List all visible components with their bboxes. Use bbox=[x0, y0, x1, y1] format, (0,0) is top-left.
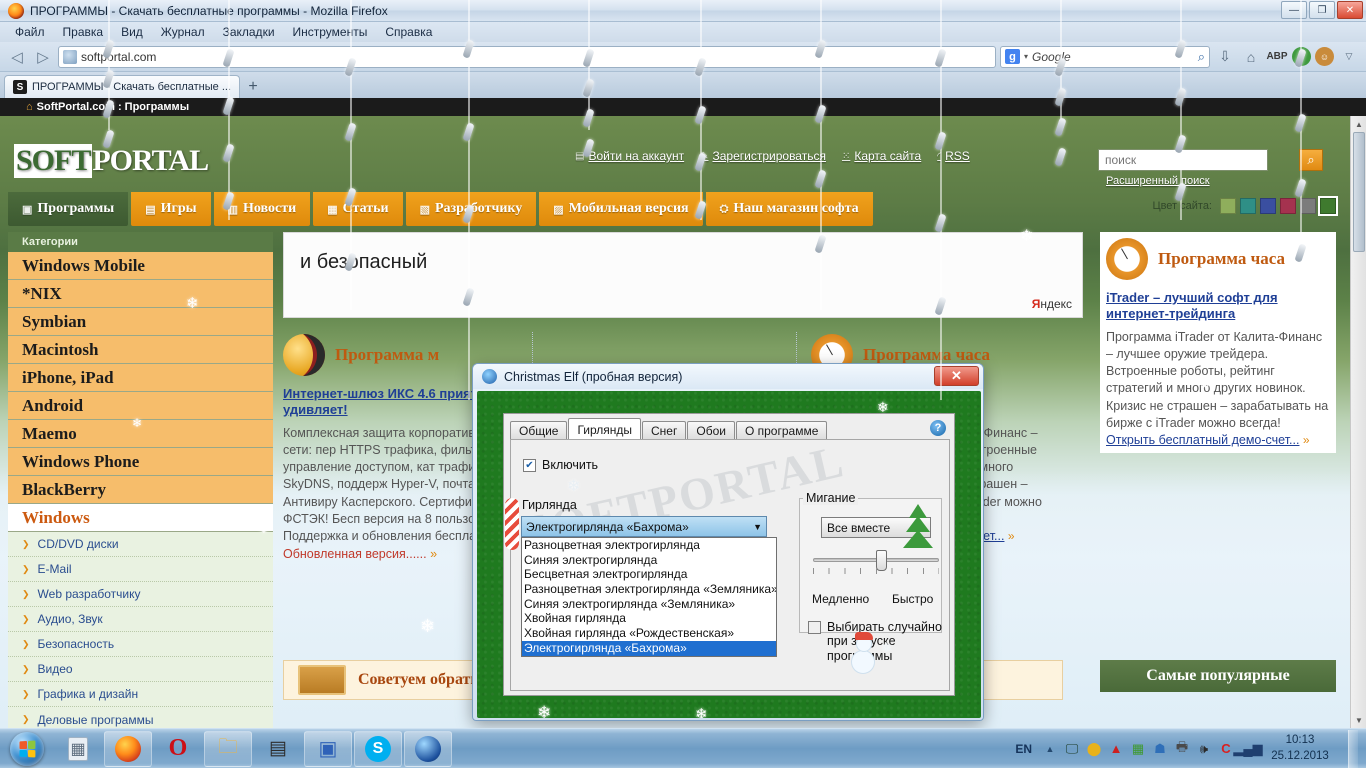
category-list: ❯ CD/DVD диски ❯ E-Mail ❯ Web разработчи… bbox=[8, 532, 273, 728]
site-favicon-icon bbox=[63, 50, 77, 64]
enable-checkbox[interactable]: ✔ Включить bbox=[523, 458, 598, 472]
site-nav: ▣ Программы ▤ Игры ▥ Новости ▦ Статьи ▧ bbox=[0, 192, 1350, 226]
christmas-ball-icon bbox=[415, 736, 441, 762]
chevron-up-icon[interactable]: ▲ bbox=[1042, 741, 1058, 757]
category-cd-dvd[interactable]: ❯ CD/DVD диски bbox=[8, 532, 273, 557]
firefox-icon bbox=[115, 736, 141, 762]
tab-wallpaper[interactable]: Обои bbox=[687, 421, 735, 440]
sitemap-link[interactable]: ⁙ Карта сайта bbox=[842, 149, 921, 163]
slider-ticks bbox=[813, 568, 939, 574]
site-header: SOFTPORTAL ▤ Войти на аккаунт ✎ Зарегист… bbox=[0, 116, 1350, 192]
snowflake-icon: ❄ bbox=[537, 703, 551, 718]
dialog-titlebar: Christmas Elf (пробная версия) ✕ bbox=[473, 364, 983, 389]
speed-fast-label: Быстро bbox=[892, 592, 933, 606]
search-icon[interactable]: ⌕ bbox=[1299, 149, 1323, 171]
garland-option-2[interactable]: Бесцветная электрогирлянда bbox=[522, 567, 776, 582]
page-viewport: SOFTPORTAL ▤ Войти на аккаунт ✎ Зарегист… bbox=[0, 116, 1366, 728]
taskbar-save[interactable]: ▣ bbox=[304, 731, 352, 767]
menu-help[interactable]: Справка bbox=[376, 24, 441, 40]
category-label: Безопасность bbox=[38, 637, 115, 651]
sidebar-item-windows-current[interactable]: Windows bbox=[8, 504, 273, 532]
network-green-icon[interactable]: ▦ bbox=[1130, 741, 1146, 757]
garland-dropdown-list[interactable]: Разноцветная электрогирлянда Синяя элект… bbox=[521, 537, 777, 657]
nav-games-label: Игры bbox=[161, 201, 197, 217]
sidebar-item-windows-mobile[interactable]: Windows Mobile bbox=[8, 252, 273, 280]
chevron-right-icon: ❯ bbox=[22, 614, 30, 625]
user-blue-icon[interactable]: ☗ bbox=[1152, 741, 1168, 757]
mobile-icon: ▨ bbox=[553, 203, 563, 216]
triangle-red-icon[interactable]: ▲ bbox=[1108, 741, 1124, 757]
dialog-content: SOFTPORTAL ✔ Включить Гирлянда Электроги… bbox=[510, 439, 950, 691]
menu-bookmarks[interactable]: Закладки bbox=[214, 24, 284, 40]
garland-option-1[interactable]: Синяя электрогирлянда bbox=[522, 553, 776, 568]
nav-shop-label: Наш магазин софта bbox=[733, 201, 858, 217]
category-email[interactable]: ❯ E-Mail bbox=[8, 557, 273, 582]
sidebar-heading: Категории bbox=[8, 232, 273, 252]
help-icon[interactable]: ? bbox=[930, 420, 946, 436]
volume-icon[interactable]: 🕪 bbox=[1196, 741, 1212, 757]
site-logo[interactable]: SOFTPORTAL bbox=[14, 144, 208, 178]
opera-icon: O bbox=[165, 736, 191, 762]
scrollbar-thumb[interactable] bbox=[1353, 132, 1365, 252]
block-textlink[interactable]: Открыть бесплатный демо-счет... bbox=[1106, 433, 1299, 447]
bookmarks-bar: ⌂ SoftPortal.com : Программы bbox=[0, 98, 1366, 116]
scroll-down-icon[interactable]: ▼ bbox=[1351, 712, 1366, 728]
navigation-toolbar: ◁ ▷ softportal.com g ▾ Google ⌕ ⇩ ⌂ ABP … bbox=[0, 42, 1366, 72]
back-icon[interactable]: ◁ bbox=[6, 46, 28, 68]
taskbar-calculator[interactable]: ▦ bbox=[54, 731, 102, 767]
chevron-down-icon[interactable]: ▼ bbox=[753, 522, 762, 532]
addon-face-icon[interactable]: ☺ bbox=[1315, 47, 1334, 66]
menu-file[interactable]: Файл bbox=[6, 24, 54, 40]
garland-option-5[interactable]: Хвойная гирлянда bbox=[522, 611, 776, 626]
maximize-button[interactable]: ❐ bbox=[1309, 1, 1335, 19]
category-label: Деловые программы bbox=[38, 713, 154, 727]
dialog-green-frame: Общие Гирлянды Снег Обои О программе ? S… bbox=[477, 391, 981, 718]
firefox-logo-icon bbox=[8, 3, 24, 19]
sidebar-item-nix[interactable]: *NIX bbox=[8, 280, 273, 308]
blink-mode-value: Все вместе bbox=[827, 521, 890, 535]
nav-mobile-label: Мобильная версия bbox=[569, 201, 689, 217]
garland-option-3[interactable]: Разноцветная электрогирлянда «Земляника» bbox=[522, 582, 776, 597]
search-input[interactable] bbox=[1098, 149, 1268, 171]
nav-developer-label: Разработчику bbox=[435, 201, 522, 217]
sitemap-label: Карта сайта bbox=[854, 149, 921, 163]
chevron-down-icon[interactable]: ▾ bbox=[1024, 52, 1028, 61]
sidebar-item-windows-phone[interactable]: Windows Phone bbox=[8, 448, 273, 476]
windows-taskbar: ▦ O 🗀 ▤ ▣ S EN ▲ 🖵 ⬤ ▲ ▦ ☗ 🖶 🕪 C ▂▄▆ 10:… bbox=[0, 728, 1366, 768]
show-desktop-button[interactable] bbox=[1348, 730, 1358, 768]
url-bar[interactable]: softportal.com bbox=[58, 46, 996, 68]
shield-yellow-icon[interactable]: ⬤ bbox=[1086, 741, 1102, 757]
category-audio[interactable]: ❯ Аудио, Звук bbox=[8, 607, 273, 632]
dialog-title: Christmas Elf (пробная версия) bbox=[504, 370, 682, 384]
category-web-dev[interactable]: ❯ Web разработчику bbox=[8, 582, 273, 607]
logo-soft: SOFT bbox=[14, 144, 92, 178]
download-arrow-icon[interactable]: ⇩ bbox=[1214, 46, 1236, 68]
games-icon: ▤ bbox=[145, 203, 155, 216]
menu-history[interactable]: Журнал bbox=[152, 24, 214, 40]
block-text: Программа iTrader от Калита-Финанс – луч… bbox=[1106, 329, 1330, 433]
category-label: CD/DVD диски bbox=[38, 537, 119, 551]
snowflake-icon: ❄ bbox=[567, 476, 580, 496]
chevron-right-icon: ❯ bbox=[22, 714, 30, 725]
rss-link[interactable]: ◜ RSS bbox=[937, 149, 970, 163]
rss-label: RSS bbox=[945, 149, 970, 163]
theme-swatch-4[interactable] bbox=[1280, 198, 1296, 214]
cart-icon: ⛭ bbox=[720, 203, 729, 216]
nav-games[interactable]: ▤ Игры bbox=[131, 192, 210, 226]
dialog-panel: Общие Гирлянды Снег Обои О программе ? S… bbox=[503, 413, 955, 696]
category-label: E-Mail bbox=[38, 562, 72, 576]
articles-icon: ▦ bbox=[327, 203, 337, 216]
printer-icon[interactable]: 🖶 bbox=[1174, 741, 1190, 757]
category-graphics[interactable]: ❯ Графика и дизайн bbox=[8, 682, 273, 707]
chevron-right-icon: ❯ bbox=[22, 589, 30, 600]
sidebar-item-blackberry[interactable]: BlackBerry bbox=[8, 476, 273, 504]
chevron-double-icon: » bbox=[430, 547, 437, 561]
tab-favicon-icon: S bbox=[13, 80, 27, 94]
windows-start-icon[interactable] bbox=[2, 731, 52, 767]
system-tray: EN ▲ 🖵 ⬤ ▲ ▦ ☗ 🖶 🕪 C ▂▄▆ 10:13 25.12.201… bbox=[1011, 729, 1366, 768]
scroll-up-icon[interactable]: ▲ bbox=[1351, 116, 1366, 132]
tab-softportal[interactable]: S ПРОГРАММЫ - Скачать бесплатные ... bbox=[4, 75, 240, 98]
nav-articles[interactable]: ▦ Статьи bbox=[313, 192, 402, 226]
block-title: Программа часа bbox=[1158, 250, 1285, 269]
snowflake-icon: ❄ bbox=[695, 705, 708, 718]
theme-label: Цвет сайта: bbox=[1152, 200, 1212, 212]
speed-slider[interactable] bbox=[813, 558, 939, 562]
blink-legend: Мигание bbox=[803, 491, 858, 505]
logo-portal: PORTAL bbox=[92, 144, 208, 177]
tab-about[interactable]: О программе bbox=[736, 421, 827, 440]
sidebar-item-iphone-ipad[interactable]: iPhone, iPad bbox=[8, 364, 273, 392]
category-label: Web разработчику bbox=[38, 587, 141, 601]
taskbar-document[interactable]: ▤ bbox=[254, 731, 302, 767]
close-button[interactable]: ✕ bbox=[1337, 1, 1363, 19]
garland-option-7-selected[interactable]: Электрогирлянда «Бахрома» bbox=[522, 641, 776, 656]
url-text: softportal.com bbox=[81, 50, 156, 64]
search-icon[interactable]: ⌕ bbox=[1198, 49, 1205, 65]
theme-swatch-3[interactable] bbox=[1260, 198, 1276, 214]
garland-option-4[interactable]: Синяя электрогирлянда «Земляника» bbox=[522, 597, 776, 612]
moon-icon bbox=[283, 334, 325, 376]
elf-app-icon bbox=[482, 369, 497, 384]
login-link[interactable]: ▤ Войти на аккаунт bbox=[575, 149, 684, 163]
category-video[interactable]: ❯ Видео bbox=[8, 657, 273, 682]
home-icon: ⌂ bbox=[26, 101, 33, 113]
chevron-double-icon: » bbox=[1303, 433, 1310, 447]
login-label: Войти на аккаунт bbox=[588, 149, 684, 163]
garland-option-6[interactable]: Хвойная гирлянда «Рождественская» bbox=[522, 626, 776, 641]
floppy-save-icon: ▣ bbox=[315, 736, 341, 762]
sidebar-item-android[interactable]: Android bbox=[8, 392, 273, 420]
sidebar: Категории Windows Mobile *NIX Symbian Ma… bbox=[8, 232, 273, 728]
clock[interactable]: 10:13 25.12.2013 bbox=[1262, 733, 1338, 764]
candy-cane-icon bbox=[505, 498, 519, 550]
window-title: ПРОГРАММЫ - Скачать бесплатные программы… bbox=[30, 4, 388, 18]
chevron-right-icon: ❯ bbox=[22, 639, 30, 650]
document-lock-icon: ▤ bbox=[265, 736, 291, 762]
signal-bars-icon[interactable]: ▂▄▆ bbox=[1240, 741, 1256, 757]
firefox-window: ПРОГРАММЫ - Скачать бесплатные программы… bbox=[0, 0, 1366, 728]
checkbox-icon bbox=[808, 621, 821, 634]
advanced-search-link[interactable]: Расширенный поиск bbox=[1106, 175, 1210, 187]
chevron-right-icon: ❯ bbox=[22, 689, 30, 700]
block-title: Программа м bbox=[335, 346, 439, 365]
site-search-wrap: ⌕ Расширенный поиск bbox=[1098, 149, 1298, 171]
dialog-tabs: Общие Гирлянды Снег Обои О программе bbox=[510, 418, 827, 440]
garland-option-0[interactable]: Разноцветная электрогирлянда bbox=[522, 538, 776, 553]
chevron-double-icon: » bbox=[1008, 529, 1015, 543]
tab-general[interactable]: Общие bbox=[510, 421, 567, 440]
apps-icon: ▣ bbox=[22, 203, 32, 216]
block-link[interactable]: iTrader – лучший софт для интернет-трейд… bbox=[1106, 290, 1330, 323]
speed-slow-label: Медленно bbox=[812, 592, 869, 606]
sidebar-item-macintosh[interactable]: Macintosh bbox=[8, 336, 273, 364]
category-business[interactable]: ❯ Деловые программы bbox=[8, 707, 273, 728]
menu-edit[interactable]: Правка bbox=[54, 24, 113, 40]
promo-text: и безопасный bbox=[300, 251, 427, 274]
calculator-icon: ▦ bbox=[68, 737, 88, 761]
taskbar-opera[interactable]: O bbox=[154, 731, 202, 767]
nav-programs[interactable]: ▣ Программы bbox=[8, 192, 128, 226]
garland-selected-value: Электрогирлянда «Бахрома» bbox=[526, 520, 689, 534]
antivirus-c-icon[interactable]: C bbox=[1218, 741, 1234, 757]
menu-view[interactable]: Вид bbox=[112, 24, 152, 40]
chevron-right-icon: ❯ bbox=[22, 539, 30, 550]
register-link[interactable]: ✎ Зарегистрироваться bbox=[700, 149, 826, 163]
sitemap-icon: ⁙ bbox=[842, 151, 850, 162]
block-more-label: Обновленная версия...... bbox=[283, 547, 427, 561]
language-indicator[interactable]: EN bbox=[1011, 742, 1036, 756]
category-security[interactable]: ❯ Безопасность bbox=[8, 632, 273, 657]
google-icon: g bbox=[1005, 49, 1020, 64]
yandex-rest: ндекс bbox=[1040, 297, 1072, 311]
theme-swatch-1[interactable] bbox=[1220, 198, 1236, 214]
skype-icon: S bbox=[365, 736, 391, 762]
popular-heading: Самые популярные bbox=[1100, 660, 1336, 692]
menu-bar: Файл Правка Вид Журнал Закладки Инструме… bbox=[0, 22, 1366, 42]
theme-swatch-2[interactable] bbox=[1240, 198, 1256, 214]
new-tab-button[interactable]: + bbox=[240, 76, 266, 98]
christmas-elf-dialog[interactable]: Christmas Elf (пробная версия) ✕ Общие Г… bbox=[472, 363, 984, 721]
light-string bbox=[468, 0, 470, 400]
checkbox-check-icon: ✔ bbox=[523, 459, 536, 472]
nav-news-label: Новости bbox=[243, 201, 296, 217]
category-label: Аудио, Звук bbox=[38, 612, 103, 626]
minimize-button[interactable]: — bbox=[1281, 1, 1307, 19]
theme-swatch-6-selected[interactable] bbox=[1320, 198, 1336, 214]
yandex-logo: Яндекс bbox=[1032, 297, 1072, 311]
page-scrollbar[interactable]: ▲ ▼ bbox=[1350, 116, 1366, 728]
theme-swatch-5[interactable] bbox=[1300, 198, 1316, 214]
tab-snow[interactable]: Снег bbox=[642, 421, 686, 440]
forward-icon[interactable]: ▷ bbox=[32, 46, 54, 68]
chevron-down-icon[interactable]: ▽ bbox=[1338, 46, 1360, 68]
gift-icon bbox=[298, 665, 346, 695]
taskbar-christmas-elf[interactable] bbox=[404, 731, 452, 767]
window-controls: — ❐ ✕ bbox=[1281, 1, 1363, 19]
sidebar-item-maemo[interactable]: Maemo bbox=[8, 420, 273, 448]
nav-shop[interactable]: ⛭ Наш магазин софта bbox=[706, 192, 873, 226]
taskbar-firefox[interactable] bbox=[104, 731, 152, 767]
clock-icon bbox=[1106, 238, 1148, 280]
chevron-right-icon: ❯ bbox=[22, 664, 30, 675]
snowman-icon bbox=[845, 634, 879, 674]
chevron-right-icon: ❯ bbox=[22, 564, 30, 575]
windows-flag-icon bbox=[19, 740, 35, 757]
taskbar-explorer[interactable]: 🗀 bbox=[204, 731, 252, 767]
top-links: ▤ Войти на аккаунт ✎ Зарегистрироваться … bbox=[575, 149, 970, 163]
christmas-tree-icon bbox=[901, 502, 935, 550]
sidebar-item-symbian[interactable]: Symbian bbox=[8, 308, 273, 336]
light-string bbox=[1300, 0, 1302, 310]
tab-title: ПРОГРАММЫ - Скачать бесплатные ... bbox=[32, 81, 231, 93]
monitor-icon[interactable]: 🖵 bbox=[1064, 741, 1080, 757]
menu-tools[interactable]: Инструменты bbox=[284, 24, 377, 40]
category-label: Видео bbox=[38, 662, 73, 676]
block-title: Программа часа bbox=[863, 346, 990, 365]
category-label: Графика и дизайн bbox=[38, 687, 139, 701]
explorer-folder-icon: 🗀 bbox=[215, 736, 241, 762]
home-icon[interactable]: ⌂ bbox=[1240, 46, 1262, 68]
dev-icon: ▧ bbox=[420, 203, 430, 216]
enable-checkbox-label: Включить bbox=[542, 458, 598, 472]
garland-combobox[interactable]: Электрогирлянда «Бахрома» ▼ bbox=[521, 516, 767, 537]
register-label: Зарегистрироваться bbox=[713, 149, 826, 163]
adblock-icon[interactable]: ABP bbox=[1266, 46, 1288, 68]
window-titlebar: ПРОГРАММЫ - Скачать бесплатные программы… bbox=[0, 0, 1366, 22]
clock-date: 25.12.2013 bbox=[1268, 749, 1332, 765]
start-orb bbox=[10, 732, 44, 766]
nav-mobile[interactable]: ▨ Мобильная версия bbox=[539, 192, 702, 226]
tab-bar: S ПРОГРАММЫ - Скачать бесплатные ... + bbox=[0, 72, 1366, 98]
nav-programs-label: Программы bbox=[37, 201, 114, 217]
promo-banner[interactable]: и безопасный Яндекс bbox=[283, 232, 1083, 318]
clock-time: 10:13 bbox=[1268, 733, 1332, 749]
garland-label: Гирлянда bbox=[522, 498, 577, 512]
taskbar-skype[interactable]: S bbox=[354, 731, 402, 767]
tab-garlands[interactable]: Гирлянды bbox=[568, 418, 641, 440]
